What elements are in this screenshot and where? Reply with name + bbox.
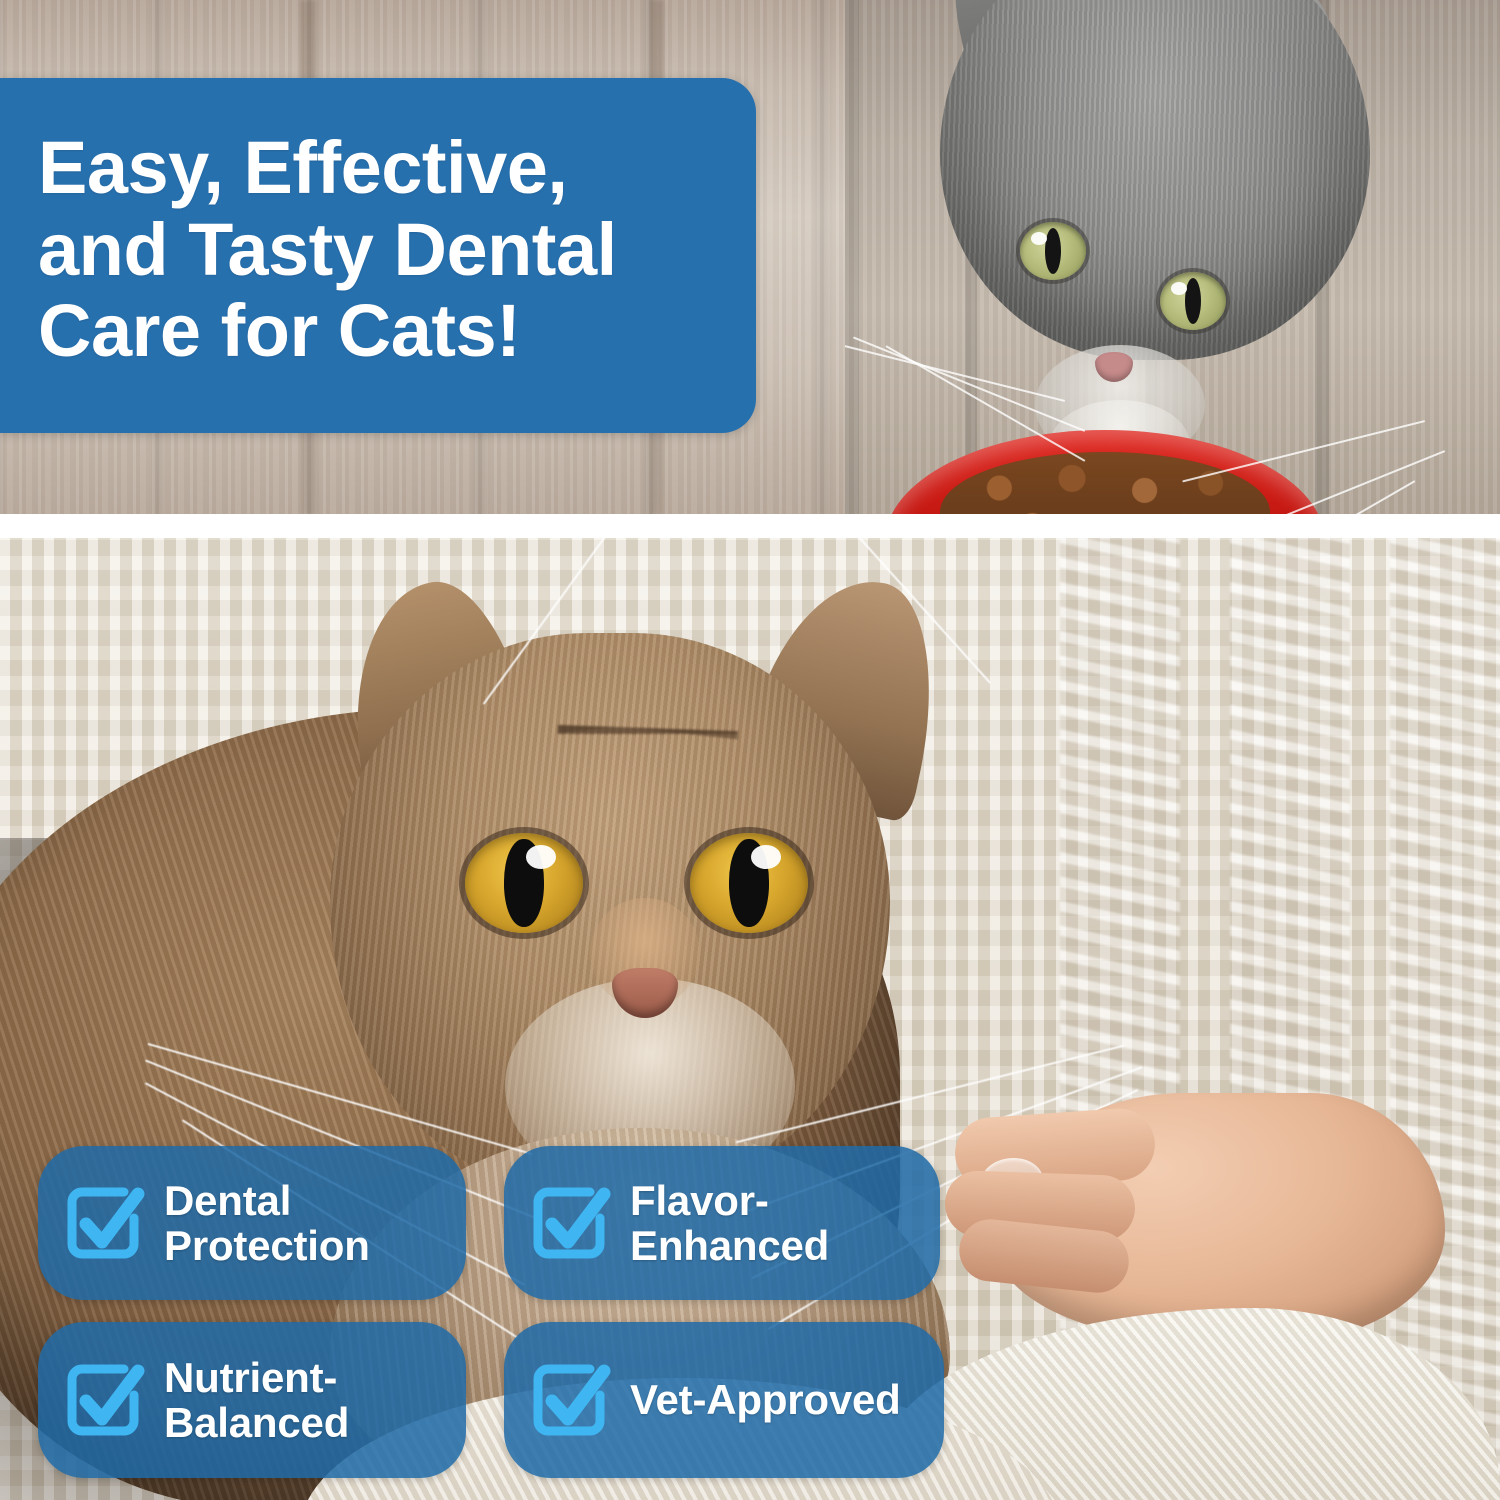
feature-badge-dental-protection[interactable]: Dental Protection (38, 1146, 466, 1300)
feature-badge-nutrient-balanced[interactable]: Nutrient- Balanced (38, 1322, 466, 1478)
cat-eye-right (690, 833, 808, 933)
checkbox-checked-icon (62, 1180, 148, 1266)
kitten-eye-right (1160, 272, 1226, 330)
cat-eye-left (465, 833, 583, 933)
feature-badge-label: Nutrient- Balanced (164, 1355, 367, 1446)
feature-badge-label: Flavor- Enhanced (630, 1178, 847, 1269)
headline-text: Easy, Effective, and Tasty Dental Care f… (38, 127, 617, 371)
checkbox-checked-icon (528, 1357, 614, 1443)
panel-divider (0, 514, 1500, 538)
product-infographic: Easy, Effective, and Tasty Dental Care f… (0, 0, 1500, 1500)
feature-badge-vet-approved[interactable]: Vet-Approved (504, 1322, 944, 1478)
feature-badge-flavor-enhanced[interactable]: Flavor- Enhanced (504, 1146, 940, 1300)
kitten-eye-left (1020, 222, 1086, 280)
feature-badge-label: Vet-Approved (630, 1377, 919, 1422)
top-image-panel: Easy, Effective, and Tasty Dental Care f… (0, 0, 1500, 514)
kitten-photo (845, 0, 1500, 514)
headline-callout: Easy, Effective, and Tasty Dental Care f… (0, 78, 756, 433)
kitten-head (940, 0, 1370, 360)
checkbox-checked-icon (528, 1180, 614, 1266)
feature-badge-label: Dental Protection (164, 1178, 388, 1269)
checkbox-checked-icon (62, 1357, 148, 1443)
